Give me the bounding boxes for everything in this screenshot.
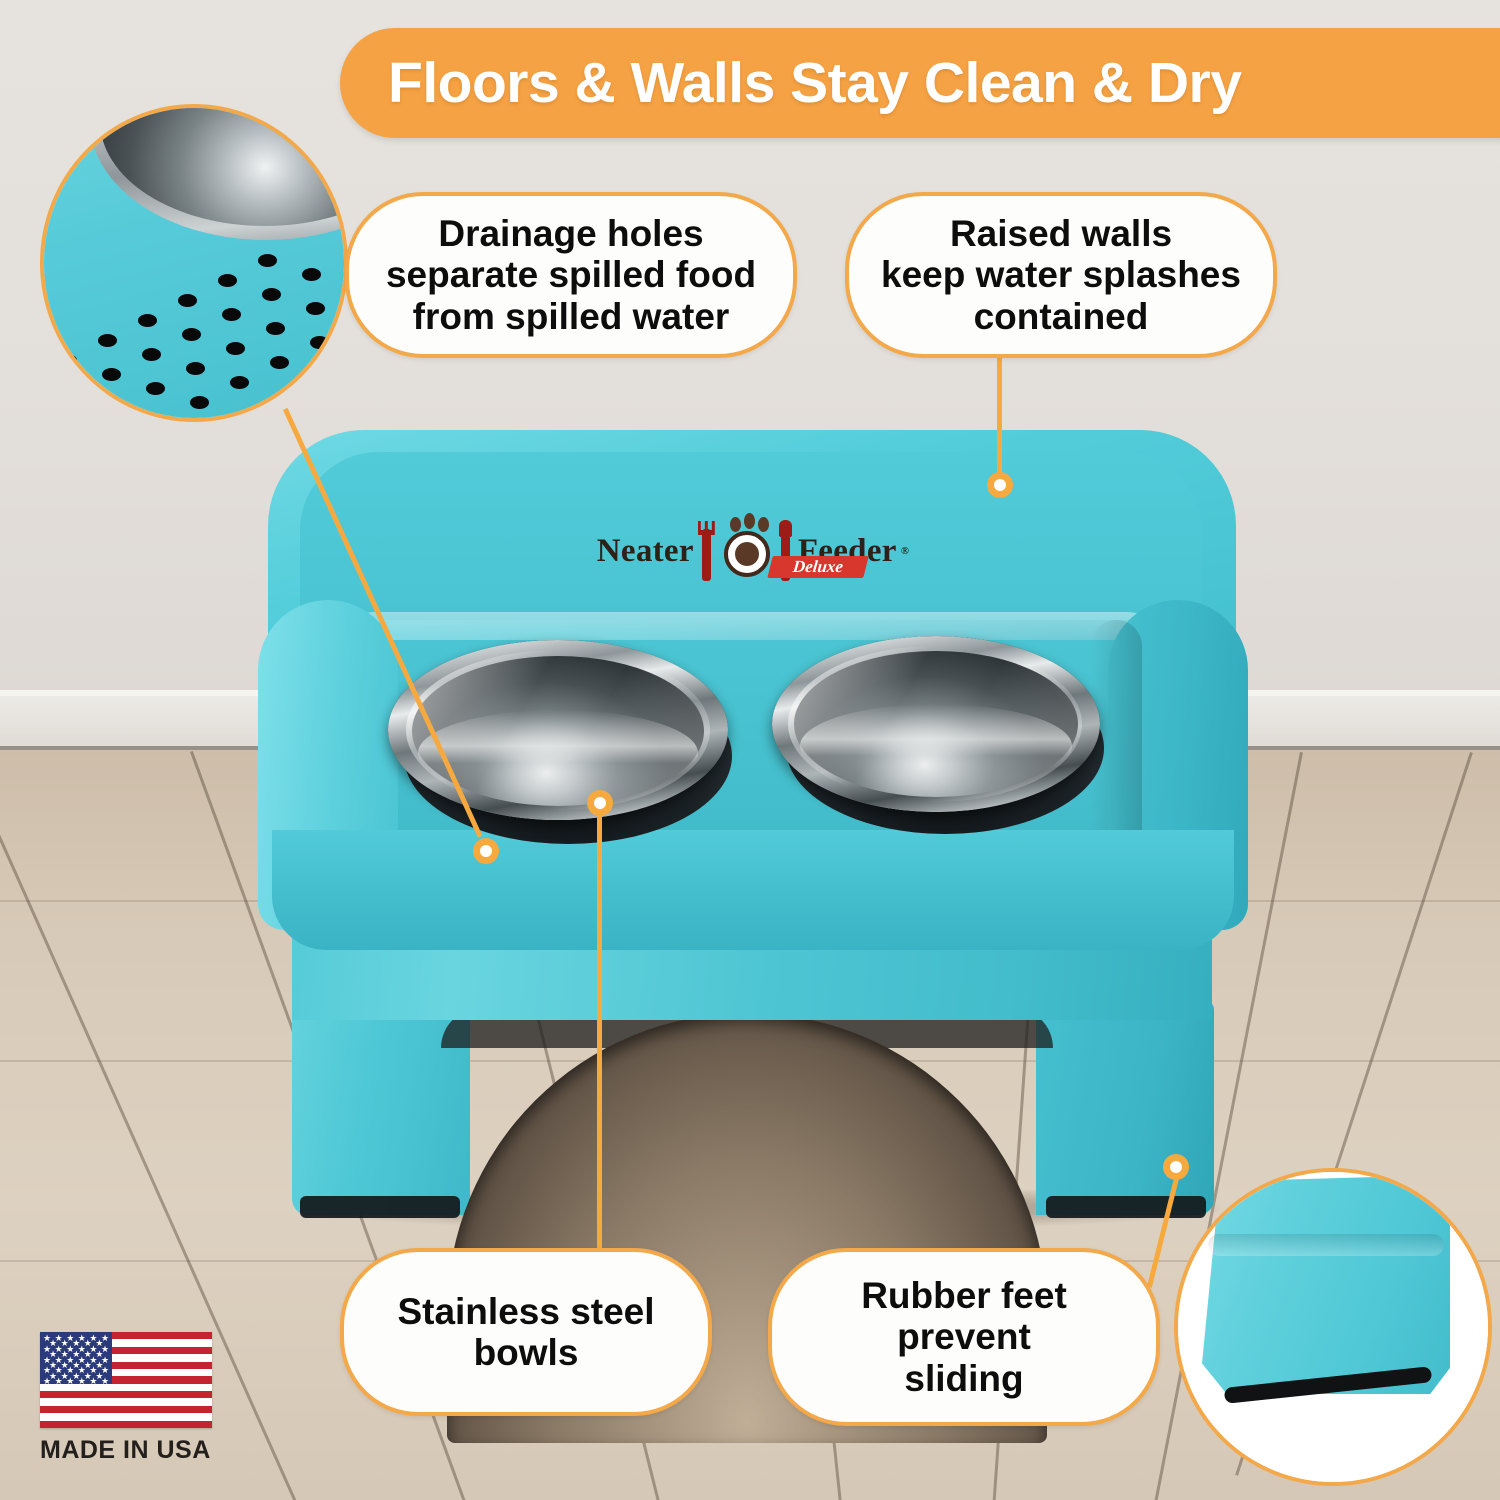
drainage-hole [142, 348, 161, 361]
flag-stripe [40, 1421, 212, 1428]
drainage-hole [182, 328, 201, 341]
drainage-hole [178, 294, 197, 307]
callout-drainage-holes-text: Drainage holes separate spilled food fro… [370, 213, 772, 337]
callout-rubber-feet: Rubber feet prevent sliding [768, 1248, 1160, 1426]
drainage-hole [302, 268, 321, 281]
rubber-foot-left [300, 1196, 460, 1218]
flag-star: ★ [66, 1377, 74, 1386]
infographic-canvas: Neater Feeder ® Deluxe Floors & Walls St… [0, 0, 1500, 1500]
connector-dot-rubber-feet [1163, 1154, 1189, 1180]
callout-raised-walls-text: Raised walls keep water splashes contain… [865, 213, 1257, 337]
logo-registered-mark: ® [901, 546, 910, 557]
closeup-stand-leg [1202, 1176, 1450, 1394]
header-banner: Floors & Walls Stay Clean & Dry [340, 28, 1500, 138]
connector-line-bowls [597, 800, 602, 1260]
drainage-hole [62, 388, 81, 401]
drainage-hole [266, 322, 285, 335]
drainage-hole [258, 254, 277, 267]
callout-raised-walls: Raised walls keep water splashes contain… [845, 192, 1277, 358]
drainage-hole [146, 382, 165, 395]
flag-star: ★ [89, 1377, 97, 1386]
callout-rubber-feet-text: Rubber feet prevent sliding [845, 1275, 1083, 1399]
drainage-hole [218, 274, 237, 287]
callout-drainage-holes: Drainage holes separate spilled food fro… [345, 192, 797, 358]
brand-logo: Neater Feeder ® Deluxe [588, 512, 918, 590]
fork-icon [702, 529, 711, 581]
basin-front-skirt [272, 830, 1234, 950]
drainage-hole [138, 314, 157, 327]
closeup-leg-groove [1208, 1234, 1444, 1256]
flag-star: ★ [55, 1377, 63, 1386]
drainage-hole [98, 334, 117, 347]
flag-stripe [40, 1391, 212, 1398]
drainage-hole [186, 362, 205, 375]
bowl-gloss-left [406, 650, 710, 810]
paw-toe-3 [758, 517, 769, 532]
drainage-hole [230, 376, 249, 389]
drainage-hole [190, 396, 209, 409]
flag-star: ★ [43, 1377, 51, 1386]
paw-toe-2 [744, 513, 755, 529]
bowl-gloss-right [788, 646, 1082, 802]
flag-stripe [40, 1398, 212, 1405]
callout-stainless-steel-bowls-text: Stainless steel bowls [381, 1291, 670, 1374]
stainless-bowl-left [388, 640, 728, 820]
flag-stripe [40, 1413, 212, 1420]
flag-star: ★ [101, 1377, 109, 1386]
connector-line-raised-walls [997, 352, 1002, 482]
stainless-bowl-right [772, 636, 1100, 812]
logo-deluxe-text: Deluxe [769, 556, 867, 578]
drainage-hole [226, 342, 245, 355]
flag-stripe [40, 1406, 212, 1413]
rubber-foot-closeup [1174, 1168, 1492, 1486]
connector-dot-bowls [587, 790, 613, 816]
connector-dot-raised-walls [987, 472, 1013, 498]
drainage-hole [106, 402, 125, 415]
drainage-holes-closeup [40, 104, 348, 422]
connector-dot-drainage [473, 838, 499, 864]
banner-title: Floors & Walls Stay Clean & Dry [388, 50, 1241, 116]
logo-deluxe-badge: Deluxe [767, 556, 868, 578]
drainage-hole [222, 308, 241, 321]
made-in-usa-badge: ★★★★★★★★★★★★★★★★★★★★★★★★★★★★★★★★★★★★★★★★… [40, 1332, 222, 1468]
usa-flag-icon: ★★★★★★★★★★★★★★★★★★★★★★★★★★★★★★★★★★★★★★★★… [40, 1332, 212, 1428]
flag-canton: ★★★★★★★★★★★★★★★★★★★★★★★★★★★★★★★★★★★★★★★★… [40, 1332, 112, 1384]
paw-toe-1 [730, 517, 741, 532]
drainage-hole [270, 356, 289, 369]
plate-icon [724, 531, 770, 577]
drainage-hole [102, 368, 121, 381]
callout-stainless-steel-bowls: Stainless steel bowls [340, 1248, 712, 1416]
drainage-hole [306, 302, 325, 315]
drainage-hole [310, 336, 329, 349]
made-in-usa-label: MADE IN USA [40, 1436, 222, 1465]
flag-star: ★ [78, 1377, 86, 1386]
logo-word-neater: Neater [597, 535, 694, 568]
drainage-hole [58, 354, 77, 367]
drainage-hole [262, 288, 281, 301]
